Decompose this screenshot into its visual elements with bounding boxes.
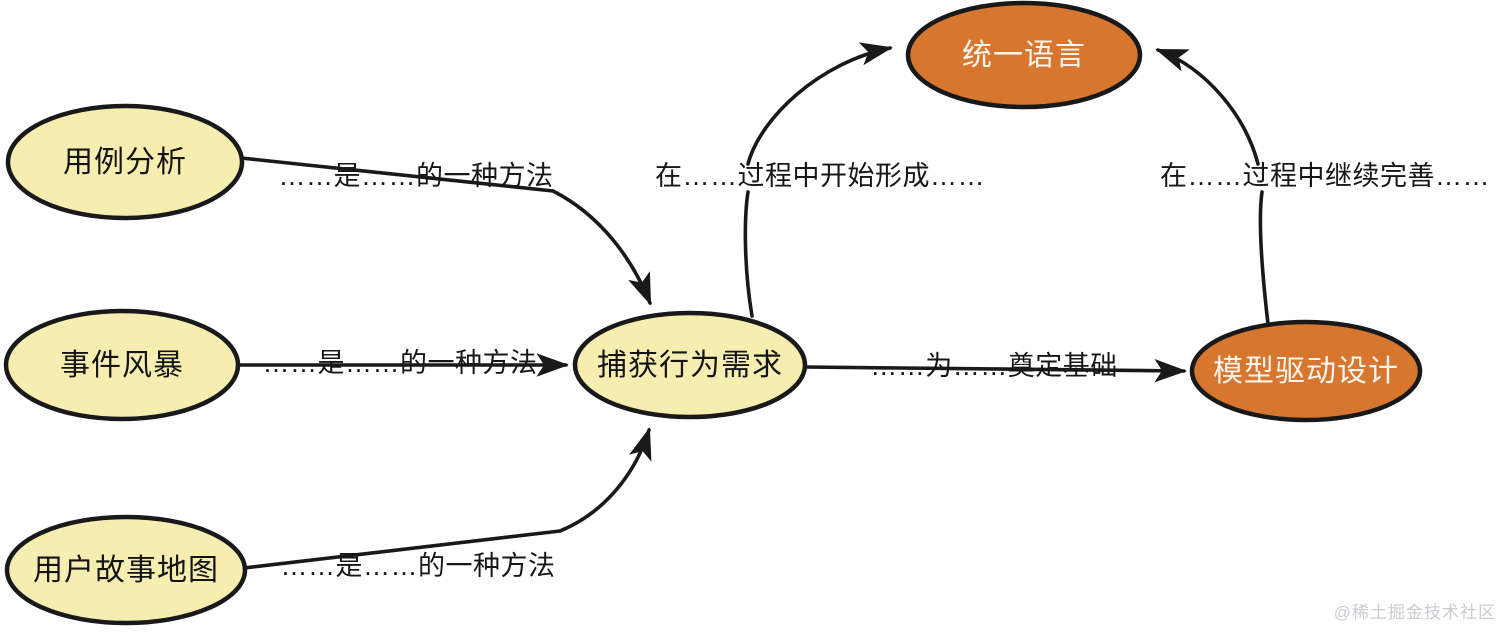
edge-curve-upper-capture-to-ubiquitous: [748, 48, 890, 164]
edge-curve-lower-model-to-ubiquitous: [1260, 192, 1268, 324]
diagram-root: ……是……的一种方法 ……是……的一种方法 ……是……的一种方法 在……过程中开…: [0, 0, 1512, 633]
watermark: @稀土掘金技术社区: [1334, 598, 1496, 623]
node-model-driven-design[interactable]: 模型驱动设计: [1192, 322, 1420, 420]
edge-label-use-case-to-capture: ……是……的一种方法: [279, 161, 554, 191]
edge-label-event-storming-to-capture: ……是……的一种方法: [263, 348, 538, 378]
edge-label-capture-to-ubiquitous-language: 在……过程中开始形成……: [655, 161, 985, 191]
node-label-model-driven-design: 模型驱动设计: [1213, 355, 1399, 388]
edge-curve-user-story-map-to-capture: [560, 430, 649, 531]
edge-capture-to-model-driven-design: ……为……奠定基础: [806, 351, 1184, 381]
edge-use-case-to-capture: ……是……的一种方法: [241, 158, 650, 303]
edge-curve-upper-model-to-ubiquitous: [1158, 50, 1258, 164]
edge-label-user-story-map-to-capture: ……是……的一种方法: [281, 551, 556, 581]
node-ubiquitous-language[interactable]: 统一语言: [908, 3, 1140, 107]
edge-event-storming-to-capture: ……是……的一种方法: [239, 348, 566, 378]
edge-label-capture-to-model-driven-design: ……为……奠定基础: [870, 351, 1118, 381]
edge-curve-lower-capture-to-ubiquitous: [745, 192, 752, 316]
edge-user-story-map-to-capture: ……是……的一种方法: [244, 430, 649, 581]
node-label-use-case-analysis: 用例分析: [63, 146, 187, 179]
diagram-canvas: ……是……的一种方法 ……是……的一种方法 ……是……的一种方法 在……过程中开…: [0, 0, 1512, 633]
node-label-user-story-map: 用户故事地图: [33, 554, 219, 587]
node-user-story-map[interactable]: 用户故事地图: [7, 517, 245, 623]
edge-label-model-driven-design-to-ubiquitous-language: 在……过程中继续完善……: [1160, 161, 1490, 191]
node-label-capture-behavior-requirements: 捕获行为需求: [597, 349, 783, 382]
node-use-case-analysis[interactable]: 用例分析: [8, 106, 242, 218]
edge-model-driven-design-to-ubiquitous-language: 在……过程中继续完善……: [1158, 50, 1490, 324]
edge-curve-use-case-to-capture: [553, 191, 650, 303]
node-capture-behavior-requirements[interactable]: 捕获行为需求: [575, 313, 805, 417]
node-label-event-storming: 事件风暴: [60, 349, 184, 382]
node-event-storming[interactable]: 事件风暴: [6, 311, 238, 419]
node-label-ubiquitous-language: 统一语言: [962, 39, 1086, 72]
